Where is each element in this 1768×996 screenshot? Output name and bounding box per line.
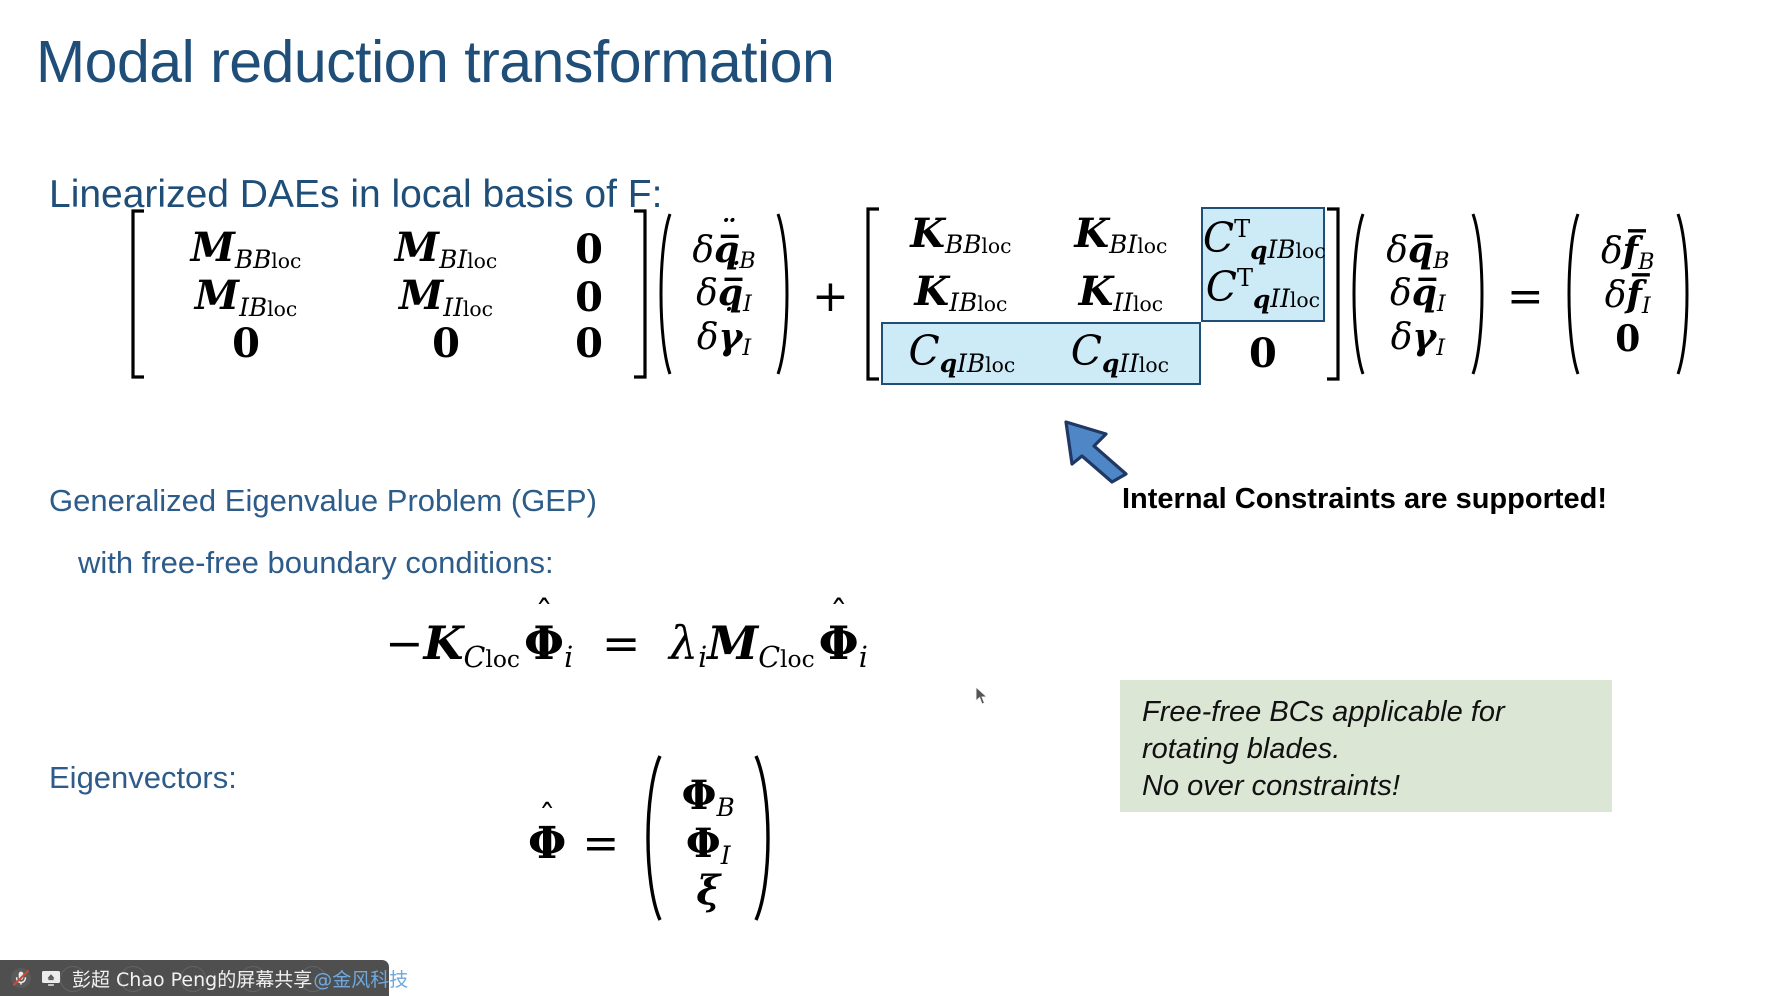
equals-operator: = xyxy=(588,616,655,670)
matrix-cell-c-q-ii-transpose: CTqIIloc xyxy=(1201,265,1325,323)
phi-index: i xyxy=(564,641,573,674)
vector-entry-gamma-i: δγ¨I xyxy=(697,318,751,362)
plus-operator: + xyxy=(798,271,863,322)
matrix-cell-k-ib: KIBloc xyxy=(914,270,1007,318)
note-line: rotating blades. xyxy=(1142,731,1590,768)
note-line: No over constraints! xyxy=(1142,768,1590,805)
matrix-cell-c-q-ib: CqIBloc xyxy=(881,322,1041,385)
minus-operator: − xyxy=(385,616,424,670)
eigenvector-paren-left xyxy=(635,752,665,935)
matrix-cell-k-ii: KIIloc xyxy=(1079,270,1163,318)
stiffness-matrix-bracket-right xyxy=(1325,206,1343,386)
matrix-cell-zero: 0 xyxy=(232,322,260,366)
lambda-symbol: λ xyxy=(669,616,698,670)
linearized-dae-equation: MBBloc MBIloc 0 MIBloc MIIloc 0 0 0 0 δq… xyxy=(128,206,1698,386)
matrix-cell-zero: 0 xyxy=(432,322,460,366)
mass-matrix-bracket-left xyxy=(128,208,146,384)
matrix-cell-m-ib: MIBloc xyxy=(195,274,297,322)
vector-entry-f-b: δf̅B xyxy=(1601,232,1655,276)
matrix-cell-m-bi: MBIloc xyxy=(395,226,497,274)
matrix-cell-k-bi: KBIloc xyxy=(1074,212,1167,260)
stiffness-matrix-bracket-left xyxy=(863,206,881,386)
note-line: Free-free BCs applicable for xyxy=(1142,694,1590,731)
note-box: Free-free BCs applicable for rotating bl… xyxy=(1120,680,1612,812)
generalized-eigenvalue-equation: −KClocΦˆi = λiMClocΦˆi xyxy=(385,616,868,674)
state-vector: δq̅B δq̅I δγI xyxy=(1367,231,1469,362)
stiffness-subscript: Cloc xyxy=(464,641,520,674)
dot xyxy=(300,966,326,992)
matrix-cell-zero: 0 xyxy=(575,228,603,272)
eigenvector-paren-right xyxy=(751,752,781,935)
mouse-pointer-icon xyxy=(975,686,989,706)
matrix-cell-zero: 0 xyxy=(575,322,603,366)
accel-vector-paren-right xyxy=(774,210,798,382)
matrix-cell-zero: 0 xyxy=(575,276,603,320)
state-vector-paren-right xyxy=(1469,210,1493,382)
callout-arrow-icon xyxy=(1058,418,1168,484)
vector-entry-q-b: δq̅B xyxy=(1386,231,1449,275)
vector-entry-zero: 0 xyxy=(1615,320,1640,360)
force-vector: δf̅B δf̅I 0 xyxy=(1582,232,1674,359)
matrix-cell-k-bb: KBBloc xyxy=(910,212,1011,260)
lambda-index: i xyxy=(698,641,707,674)
dot xyxy=(120,966,146,992)
phi-hat-symbol: Φˆ xyxy=(528,818,566,869)
eigenvector-entry-xi: ξ xyxy=(696,869,720,913)
slide-canvas: Modal reduction transformation Linearize… xyxy=(0,0,1768,996)
mass-matrix: MBBloc MBIloc 0 MIBloc MIIloc 0 0 0 0 xyxy=(146,226,632,366)
taskbar-placeholder-dots xyxy=(60,966,326,992)
gep-sublabel: with free-free boundary conditions: xyxy=(78,545,554,581)
matrix-cell-c-q-ii: CqIIloc xyxy=(1041,322,1201,385)
vector-entry-f-i: δf̅I xyxy=(1605,276,1651,320)
phi-hat-symbol: Φˆ xyxy=(819,616,859,670)
acceleration-vector: δq̅¨B δq̅¨I δγ¨I xyxy=(674,231,774,362)
mass-symbol: M xyxy=(707,616,758,670)
matrix-cell-m-bb: MBBloc xyxy=(191,226,302,274)
eigenvector-components: ΦB ΦI ξ xyxy=(665,774,751,914)
gep-label: Generalized Eigenvalue Problem (GEP) xyxy=(49,483,597,519)
mass-matrix-bracket-right xyxy=(632,208,650,384)
dot xyxy=(60,966,86,992)
share-company-label: @金风科技 xyxy=(313,965,408,992)
equals-operator: = xyxy=(1493,271,1558,322)
dot xyxy=(240,966,266,992)
force-vector-paren-left xyxy=(1558,210,1582,382)
mass-subscript: Cloc xyxy=(758,641,814,674)
vector-entry-gamma-i: δγI xyxy=(1391,318,1445,362)
force-vector-paren-right xyxy=(1674,210,1698,382)
stiffness-constraint-matrix: KBBloc KBIloc CTqIBloc KIBloc KIIloc CTq… xyxy=(881,207,1325,386)
microphone-muted-icon[interactable] xyxy=(6,964,36,992)
vector-entry-q-i: δq̅I xyxy=(1390,274,1446,318)
stiffness-symbol: K xyxy=(424,616,464,670)
eigenvector-entry-phi-b: ΦB xyxy=(682,774,735,822)
accel-vector-paren-left xyxy=(650,210,674,382)
equals-operator: = xyxy=(566,818,635,869)
dot xyxy=(180,966,206,992)
state-vector-paren-left xyxy=(1343,210,1367,382)
eigenvector-equation: Φˆ = ΦB ΦI ξ xyxy=(528,752,781,935)
eigenvector-entry-phi-i: ΦI xyxy=(686,822,731,870)
phi-hat-symbol: Φˆ xyxy=(524,616,564,670)
matrix-cell-m-ii: MIIloc xyxy=(399,274,493,322)
eigenvectors-label: Eigenvectors: xyxy=(49,760,237,796)
internal-constraints-callout: Internal Constraints are supported! xyxy=(1122,483,1607,516)
phi-index: i xyxy=(859,641,868,674)
matrix-cell-c-q-ib-transpose: CTqIBloc xyxy=(1201,207,1325,265)
matrix-cell-zero: 0 xyxy=(1249,332,1277,376)
page-title: Modal reduction transformation xyxy=(36,28,834,96)
